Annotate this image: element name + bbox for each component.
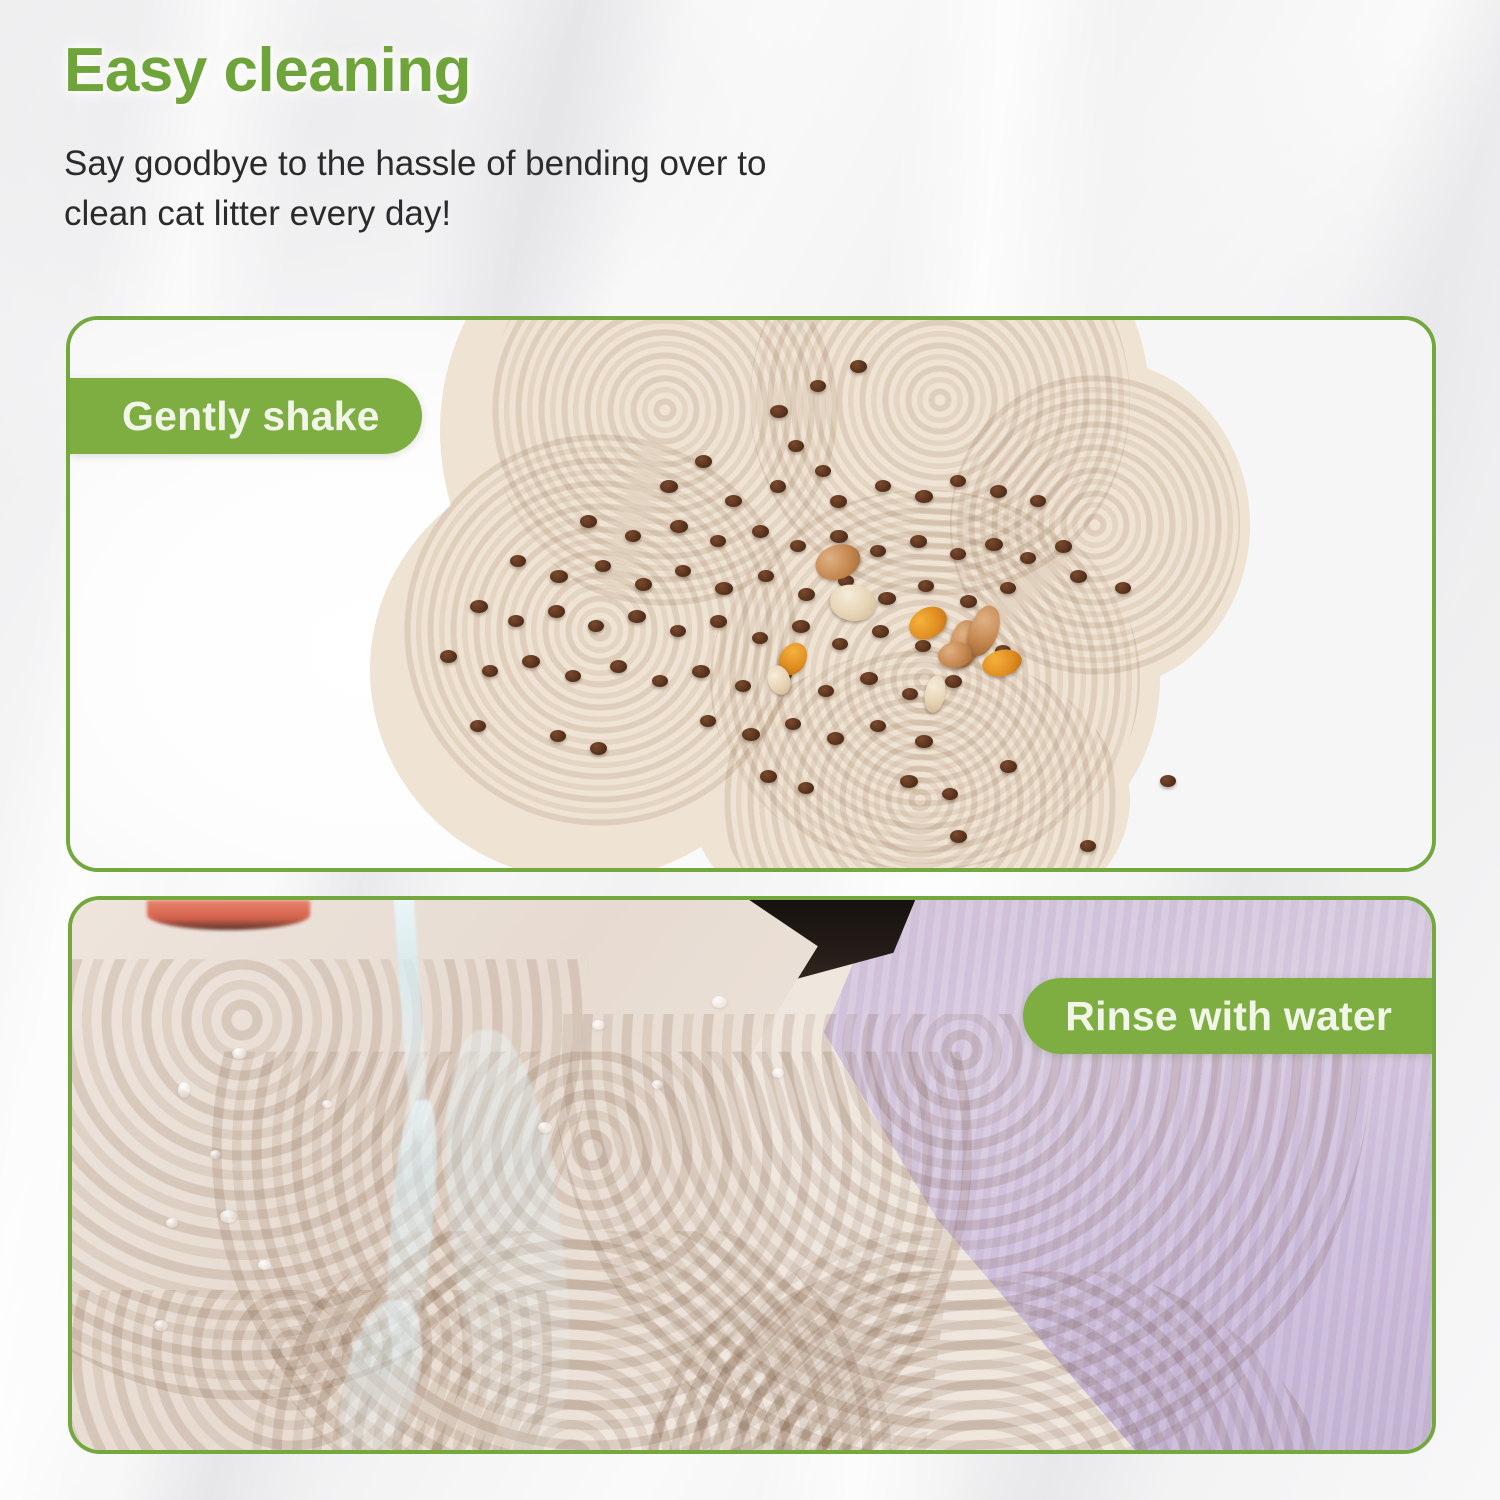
page-title: Easy cleaning [64, 38, 1164, 105]
card-rinse-with-water: Rinse with water [68, 896, 1436, 1454]
badge-gently-shake: Gently shake [70, 378, 422, 454]
subtitle-line-2: clean cat litter every day! [64, 189, 1044, 239]
infographic-page: Easy cleaning Say goodbye to the hassle … [0, 0, 1500, 1500]
header-block: Easy cleaning Say goodbye to the hassle … [64, 38, 1164, 238]
card-gently-shake: Gently shake [66, 316, 1436, 872]
badge-rinse-with-water: Rinse with water [1023, 978, 1432, 1054]
badge-gently-shake-label: Gently shake [122, 393, 380, 440]
badge-rinse-with-water-label: Rinse with water [1065, 993, 1392, 1040]
subtitle-line-1: Say goodbye to the hassle of bending ove… [64, 139, 1044, 189]
page-subtitle: Say goodbye to the hassle of bending ove… [64, 139, 1044, 238]
